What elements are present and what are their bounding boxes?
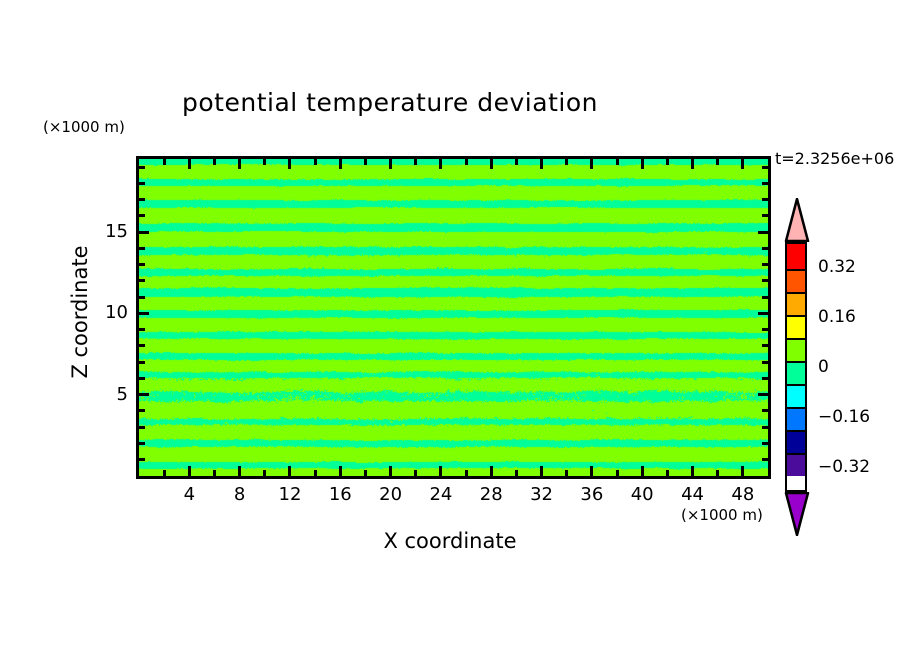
y-tick-label: 10	[68, 302, 128, 323]
y-tick-mark	[139, 182, 145, 185]
y-tick-mark-right	[762, 214, 768, 217]
colorbar-over-arrow-icon	[782, 198, 812, 242]
x-axis-unit-label: (×1000 m)	[681, 506, 763, 524]
y-tick-mark	[139, 409, 145, 412]
y-tick-mark-right	[758, 312, 768, 315]
x-tick-mark	[439, 466, 442, 476]
y-tick-mark-right	[762, 409, 768, 412]
colorbar-label: 0.16	[818, 307, 856, 327]
time-annotation: t=2.3256e+06	[775, 149, 894, 168]
y-tick-mark	[139, 263, 145, 266]
y-tick-label: 5	[68, 384, 128, 405]
y-tick-mark	[139, 214, 145, 217]
x-tick-mark	[590, 466, 593, 476]
x-tick-mark	[188, 466, 191, 476]
x-tick-mark-top	[263, 159, 266, 165]
x-tick-mark	[490, 466, 493, 476]
colorbar-label: −0.32	[818, 457, 870, 477]
y-tick-mark	[139, 393, 149, 396]
x-tick-mark-top	[314, 159, 317, 165]
x-tick-mark-top	[364, 159, 367, 165]
y-tick-mark-right	[758, 393, 768, 396]
x-tick-mark	[741, 466, 744, 476]
y-tick-mark-right	[762, 328, 768, 331]
x-tick-mark-top	[490, 159, 493, 169]
y-tick-mark	[139, 312, 149, 315]
colorbar: 0.320.160−0.16−0.32	[782, 198, 812, 498]
y-tick-mark-right	[762, 458, 768, 461]
x-tick-mark-top	[163, 159, 166, 165]
y-tick-mark	[139, 458, 145, 461]
colorbar-band	[787, 244, 805, 269]
y-tick-mark-right	[762, 263, 768, 266]
x-tick-mark	[515, 470, 518, 476]
colorbar-band	[787, 407, 805, 430]
y-tick-mark-right	[762, 296, 768, 299]
x-tick-mark	[641, 466, 644, 476]
x-tick-mark-top	[616, 159, 619, 165]
y-tick-mark	[139, 296, 145, 299]
page-title: potential temperature deviation	[0, 88, 780, 117]
x-tick-mark	[339, 466, 342, 476]
x-tick-mark-top	[339, 159, 342, 169]
colorbar-band	[787, 292, 805, 315]
x-tick-mark	[465, 470, 468, 476]
colorbar-band	[787, 361, 805, 384]
colorbar-band	[787, 430, 805, 453]
y-tick-mark	[139, 426, 145, 429]
y-tick-mark-right	[762, 182, 768, 185]
y-tick-mark	[139, 198, 145, 201]
x-tick-mark-top	[691, 159, 694, 169]
heatmap-plot-area	[136, 156, 771, 479]
colorbar-band	[787, 338, 805, 361]
x-tick-mark	[414, 470, 417, 476]
y-tick-mark	[139, 247, 145, 250]
temperature-field-image	[139, 159, 768, 476]
x-tick-mark	[666, 470, 669, 476]
y-tick-mark	[139, 328, 145, 331]
y-tick-mark	[139, 279, 145, 282]
x-tick-mark	[616, 470, 619, 476]
y-tick-mark-right	[762, 166, 768, 169]
colorbar-label: −0.16	[818, 407, 870, 427]
y-tick-mark	[139, 377, 145, 380]
figure-canvas: potential temperature deviation (×1000 m…	[0, 0, 904, 654]
x-tick-mark	[364, 470, 367, 476]
x-tick-mark-top	[288, 159, 291, 169]
colorbar-under-arrow-icon	[782, 492, 812, 536]
x-tick-mark	[314, 470, 317, 476]
x-tick-mark	[213, 470, 216, 476]
x-tick-mark-top	[188, 159, 191, 169]
y-tick-mark	[139, 442, 145, 445]
y-tick-mark-right	[762, 361, 768, 364]
x-tick-mark-top	[716, 159, 719, 165]
x-tick-mark-top	[741, 159, 744, 169]
y-tick-mark-right	[762, 344, 768, 347]
y-tick-mark-right	[762, 279, 768, 282]
x-tick-mark-top	[590, 159, 593, 169]
colorbar-band	[787, 315, 805, 338]
y-tick-mark-right	[762, 426, 768, 429]
x-tick-mark-top	[515, 159, 518, 165]
x-tick-mark	[716, 470, 719, 476]
y-tick-mark-right	[762, 247, 768, 250]
x-tick-mark	[238, 466, 241, 476]
x-tick-mark	[389, 466, 392, 476]
y-tick-mark	[139, 361, 145, 364]
x-tick-mark	[163, 470, 166, 476]
y-axis-unit-label: (×1000 m)	[43, 118, 125, 136]
x-tick-mark-top	[565, 159, 568, 165]
x-tick-mark	[288, 466, 291, 476]
y-tick-mark-right	[762, 442, 768, 445]
y-tick-label: 15	[68, 221, 128, 242]
colorbar-band	[787, 384, 805, 407]
colorbar-band	[787, 269, 805, 292]
colorbar-band	[787, 453, 805, 476]
x-tick-label: 48	[713, 484, 773, 505]
y-tick-mark-right	[762, 377, 768, 380]
colorbar-bands	[785, 242, 807, 492]
y-tick-mark-right	[758, 231, 768, 234]
x-tick-mark-top	[414, 159, 417, 165]
x-tick-mark-top	[540, 159, 543, 169]
x-tick-mark	[263, 470, 266, 476]
colorbar-label: 0	[818, 357, 829, 377]
y-tick-mark	[139, 166, 145, 169]
x-tick-mark-top	[389, 159, 392, 169]
x-tick-mark-top	[641, 159, 644, 169]
x-tick-mark-top	[465, 159, 468, 165]
x-tick-mark-top	[439, 159, 442, 169]
y-tick-mark-right	[762, 198, 768, 201]
x-tick-mark	[691, 466, 694, 476]
x-tick-mark	[565, 470, 568, 476]
colorbar-label: 0.32	[818, 257, 856, 277]
y-tick-mark	[139, 344, 145, 347]
x-tick-mark	[540, 466, 543, 476]
y-tick-mark	[139, 231, 149, 234]
x-tick-mark-top	[213, 159, 216, 165]
x-tick-mark-top	[666, 159, 669, 165]
x-tick-mark-top	[238, 159, 241, 169]
x-axis-title: X coordinate	[250, 529, 650, 553]
